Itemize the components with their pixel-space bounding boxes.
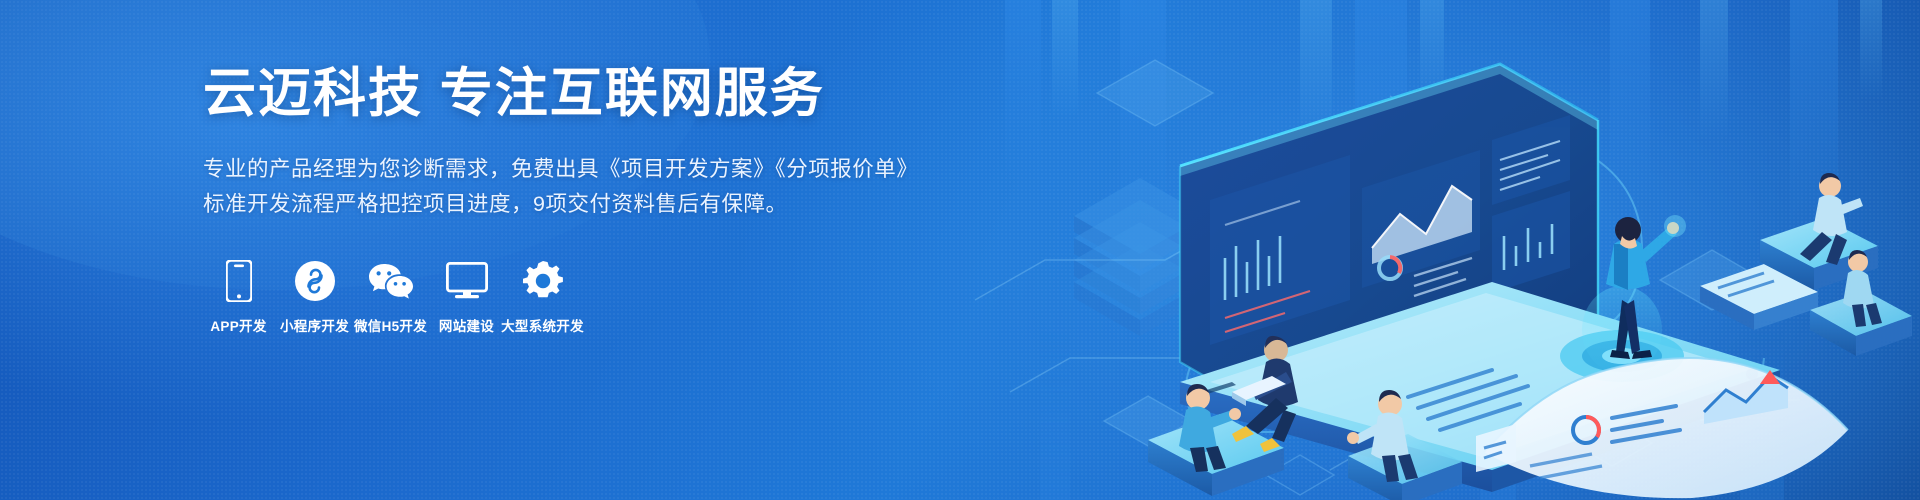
monitor-icon bbox=[446, 260, 488, 302]
banner-content: 云迈科技 专注互联网服务 专业的产品经理为您诊断需求，免费出具《项目开发方案》《… bbox=[203, 62, 923, 335]
service-item-wechat[interactable]: 微信H5开发 bbox=[355, 260, 426, 335]
hero-banner: 云迈科技 专注互联网服务 专业的产品经理为您诊断需求，免费出具《项目开发方案》《… bbox=[0, 0, 1920, 500]
service-label: 网站建设 bbox=[439, 315, 494, 335]
service-label: 小程序开发 bbox=[280, 315, 349, 335]
service-item-system[interactable]: 大型系统开发 bbox=[507, 260, 578, 335]
mobile-phone-icon bbox=[226, 260, 252, 302]
service-list: APP开发 小程序开发 bbox=[203, 260, 923, 335]
service-item-website[interactable]: 网站建设 bbox=[431, 260, 502, 335]
wechat-icon bbox=[368, 260, 414, 302]
service-item-app[interactable]: APP开发 bbox=[203, 260, 274, 335]
service-label: APP开发 bbox=[210, 315, 266, 335]
service-item-miniprogram[interactable]: 小程序开发 bbox=[279, 260, 350, 335]
service-label: 大型系统开发 bbox=[501, 315, 584, 335]
subtitle-line-2: 标准开发流程严格把控项目进度，9项交付资料售后有保障。 bbox=[203, 187, 923, 222]
mini-program-icon bbox=[295, 260, 335, 302]
gear-icon bbox=[523, 260, 563, 302]
subtitle-line-1: 专业的产品经理为您诊断需求，免费出具《项目开发方案》《分项报价单》 bbox=[203, 152, 923, 187]
service-label: 微信H5开发 bbox=[354, 315, 427, 335]
page-title: 云迈科技 专注互联网服务 bbox=[203, 62, 923, 126]
isometric-data-dashboard-illustration bbox=[880, 0, 1920, 500]
banner-subtitle: 专业的产品经理为您诊断需求，免费出具《项目开发方案》《分项报价单》 标准开发流程… bbox=[203, 152, 923, 222]
